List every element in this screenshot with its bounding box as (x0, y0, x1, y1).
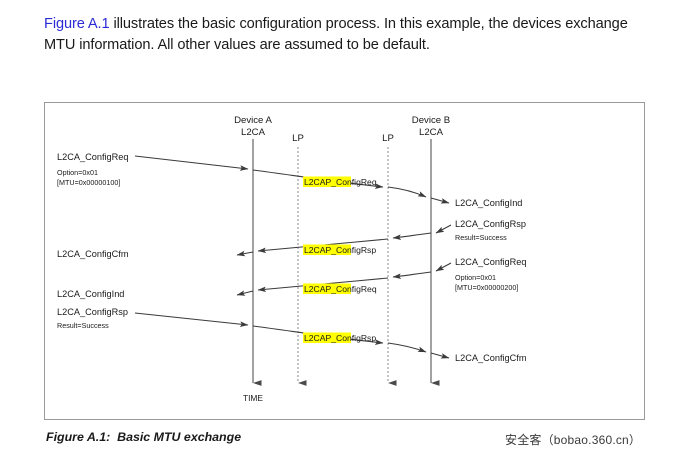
message-2-source-label: L2CA_ConfigRsp (455, 219, 526, 229)
message-1-wire-label: L2CAP_ConfigReq (304, 177, 377, 187)
lifeline-title-device-a-line2: L2CA (241, 127, 266, 138)
intro-paragraph: Figure A.1 illustrates the basic configu… (44, 14, 636, 56)
message-2-source-sub-1: Result=Success (455, 233, 507, 242)
lifeline-title-device-a-line1: Device A (234, 115, 272, 126)
message-3: L2CA_ConfigReq Option=0x01 [MTU=0x000002… (57, 257, 527, 299)
lifeline-title-device-b-line1: Device B (412, 115, 450, 126)
lifeline-header-lp-left: LP (292, 133, 304, 144)
lifeline-title-device-b-line2: L2CA (419, 127, 444, 138)
time-axis-label: TIME (243, 393, 263, 403)
message-4-wire-lp-to-b (388, 343, 426, 352)
message-4-source-sub-1: Result=Success (57, 321, 109, 330)
message-3-source-label: L2CA_ConfigReq (455, 257, 527, 267)
message-3-source-sub-2: [MTU=0x00000200] (455, 283, 518, 292)
lifeline-title-lp-right: LP (382, 133, 394, 144)
message-1-target-label: L2CA_ConfigInd (455, 198, 522, 208)
lifeline-header-lp-right: LP (382, 133, 394, 144)
message-1-source-sub-1: Option=0x01 (57, 168, 98, 177)
message-4-wire-label: L2CAP_ConfigRsp (304, 333, 376, 343)
figure-box: Device A L2CA LP LP Device B L2CA TIME L… (44, 102, 645, 420)
message-2: L2CA_ConfigRsp Result=Success L2CAP_Conf… (57, 219, 526, 259)
message-4-source-label: L2CA_ConfigRsp (57, 307, 128, 317)
message-1-leader-in (135, 156, 248, 169)
lifeline-header-device-b: Device B L2CA (412, 115, 450, 138)
figure-reference-link[interactable]: Figure A.1 (44, 16, 110, 32)
message-1-wire-lp-to-b (388, 187, 426, 197)
message-2-wire-label: L2CAP_ConfigRsp (304, 245, 376, 255)
message-4-leader-in (135, 313, 248, 325)
message-1-source-sub-2: [MTU=0x00000100] (57, 178, 120, 187)
message-3-leader-out (237, 291, 253, 295)
message-2-target-label: L2CA_ConfigCfm (57, 249, 129, 259)
intro-paragraph-text: illustrates the basic configuration proc… (44, 16, 628, 53)
message-3-wire-label: L2CAP_ConfigReq (304, 284, 377, 294)
message-1: L2CA_ConfigReq Option=0x01 [MTU=0x000001… (57, 152, 522, 208)
lifeline-title-lp-left: LP (292, 133, 304, 144)
message-2-wire-b-to-lp (393, 233, 431, 238)
message-4-leader-out (431, 353, 449, 358)
message-1-leader-out (431, 198, 449, 203)
message-3-wire-b-to-lp (393, 272, 431, 277)
message-3-target-label: L2CA_ConfigInd (57, 289, 124, 299)
message-3-source-sub-1: Option=0x01 (455, 273, 496, 282)
message-4: L2CA_ConfigRsp Result=Success L2CAP_Conf… (57, 307, 527, 363)
message-3-leader-in (436, 263, 451, 271)
sequence-diagram: Device A L2CA LP LP Device B L2CA TIME L… (45, 103, 646, 421)
message-2-leader-in (436, 225, 451, 233)
watermark: 安全客（bobao.360.cn） (505, 431, 641, 448)
message-1-source-label: L2CA_ConfigReq (57, 152, 129, 162)
lifeline-header-device-a: Device A L2CA (234, 115, 272, 138)
figure-caption: Figure A.1: Basic MTU exchange (46, 430, 241, 444)
message-2-leader-out (237, 252, 253, 255)
message-4-target-label: L2CA_ConfigCfm (455, 353, 527, 363)
